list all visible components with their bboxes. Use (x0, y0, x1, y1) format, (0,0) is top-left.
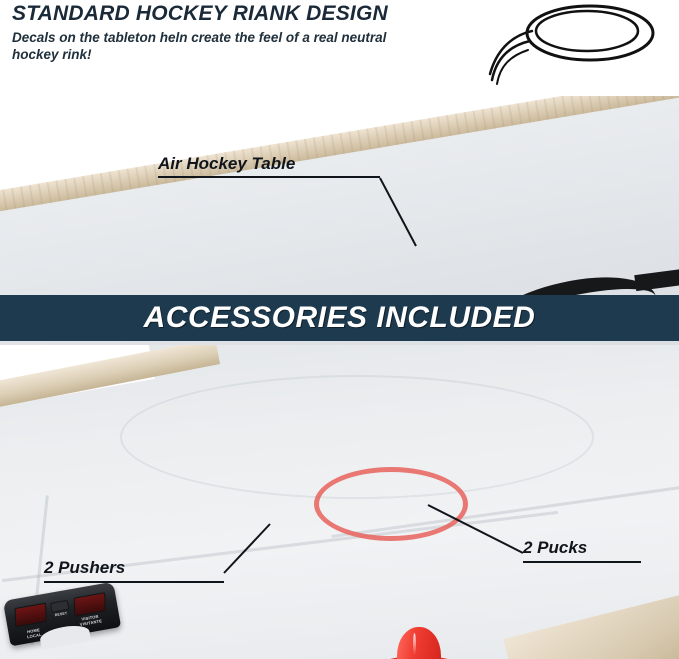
center-circle-decal (314, 467, 468, 541)
accessories-scene: RESET HOME LOCAL VISITOR VISITANTE (0, 345, 679, 659)
scorer-notch (39, 623, 91, 649)
callout-underline (158, 176, 380, 178)
pusher-knob (397, 627, 441, 659)
header-block: STANDARD HOCKEY RIANK DESIGN Decals on t… (12, 2, 482, 63)
callout-underline (44, 581, 224, 583)
callout-label: 2 Pucks (523, 538, 641, 558)
callout-air-hockey-table: Air Hockey Table (158, 154, 380, 178)
led-display-home (15, 603, 47, 628)
pusher-highlight (413, 633, 416, 656)
page-title: STANDARD HOCKEY RIANK DESIGN (12, 2, 482, 26)
callout-underline (523, 561, 641, 563)
pusher-upper (373, 627, 465, 659)
electronic-scorer: RESET HOME LOCAL VISITOR VISITANTE (3, 582, 121, 647)
flying-puck-icon (470, 0, 679, 90)
table-rail-bottom-right (503, 593, 679, 659)
page-subtitle: Decals on the tableton heln create the f… (12, 29, 412, 63)
callout-pushers: 2 Pushers (44, 558, 224, 583)
banner-label: ACCESSORIES INCLUDED (144, 301, 536, 335)
callout-pucks: 2 Pucks (523, 538, 641, 563)
accessories-banner: ACCESSORIES INCLUDED (0, 295, 679, 341)
callout-label: Air Hockey Table (158, 154, 380, 174)
product-infographic: STANDARD HOCKEY RIANK DESIGN Decals on t… (0, 0, 679, 659)
callout-label: 2 Pushers (44, 558, 224, 578)
